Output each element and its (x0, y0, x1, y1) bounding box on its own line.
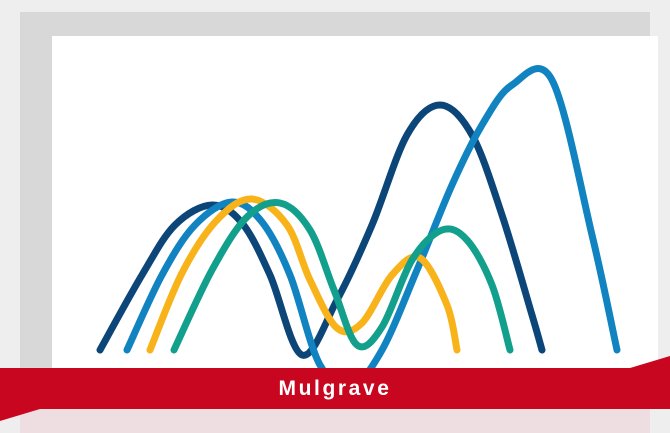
card-frame (20, 12, 650, 408)
wave-chart (52, 36, 658, 385)
banner-shadow (20, 408, 650, 433)
ribbon-fold-left-icon (0, 409, 40, 421)
ribbon-banner: Mulgrave (0, 368, 670, 409)
chart-series-group (100, 69, 617, 385)
banner-title: Mulgrave (0, 368, 670, 409)
chart-canvas (52, 36, 658, 385)
ribbon-fold-right-icon (630, 356, 670, 368)
